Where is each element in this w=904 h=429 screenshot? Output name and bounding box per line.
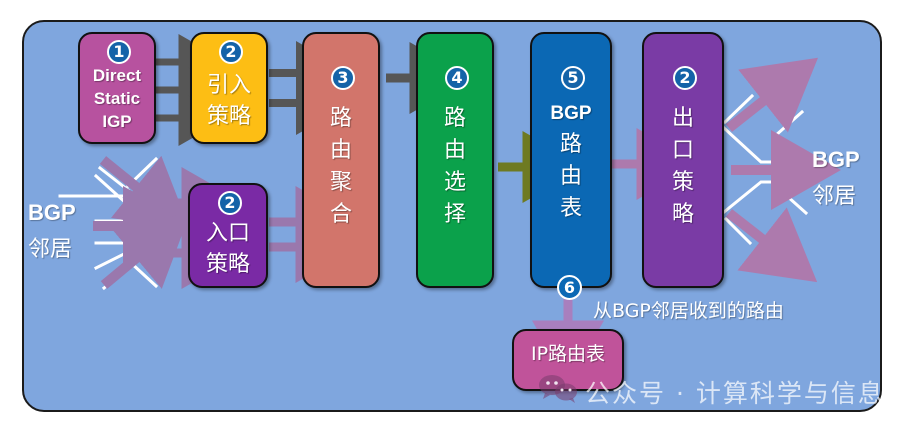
label-bgp-neighbor-right-line2: 邻居	[812, 178, 856, 210]
label-bgp-neighbor-right-line1: BGP	[812, 147, 860, 173]
box-label-igp: IGP	[80, 113, 154, 131]
box-import-policy[interactable]: 2 引入 策略	[190, 32, 268, 144]
box-label-inbound-1: 入口	[190, 222, 266, 246]
box-label-agg-1: 路	[304, 107, 378, 131]
box-label-import-line1: 引入	[192, 74, 266, 98]
box-label-sel-1: 路	[418, 107, 492, 131]
box-label-agg-2: 由	[304, 139, 378, 163]
box-label-export-1: 出	[644, 107, 722, 131]
box-label-export-2: 口	[644, 139, 722, 163]
wechat-icon	[537, 373, 579, 403]
box-label-inbound-2: 策略	[190, 253, 266, 277]
box-label-bgptable-4: 表	[532, 197, 610, 221]
box-inbound-policy[interactable]: 2 入口 策略	[188, 183, 268, 288]
box-route-aggregation[interactable]: 3 路 由 聚 合	[302, 32, 380, 288]
label-bgp-neighbor-left-line2: 邻居	[28, 231, 72, 263]
badge-1: 1	[107, 40, 131, 64]
box-label-sel-3: 选	[418, 171, 492, 195]
badge-4: 4	[445, 66, 469, 90]
badge-2-export: 2	[673, 66, 697, 90]
badge-2-import: 2	[219, 40, 243, 64]
box-label-import-line2: 策略	[192, 105, 266, 129]
box-label-export-4: 略	[644, 203, 722, 227]
badge-6: 6	[557, 275, 582, 300]
box-label-bgptable-2: 路	[532, 133, 610, 157]
badge-2-inbound: 2	[218, 191, 242, 215]
box-label-bgptable-3: 由	[532, 165, 610, 189]
label-received-routes: 从BGP邻居收到的路由	[593, 296, 784, 323]
box-direct-static-igp[interactable]: 1 Direct Static IGP	[78, 32, 156, 144]
box-route-selection[interactable]: 4 路 由 选 择	[416, 32, 494, 288]
box-label-direct: Direct	[80, 67, 154, 85]
box-label-sel-4: 择	[418, 203, 492, 227]
box-label-agg-3: 聚	[304, 171, 378, 195]
badge-5: 5	[561, 66, 585, 90]
label-bgp-neighbor-left-line1: BGP	[28, 200, 76, 226]
box-label-sel-2: 由	[418, 139, 492, 163]
box-label-export-3: 策	[644, 171, 722, 195]
box-bgp-routing-table[interactable]: 5 BGP 路 由 表	[530, 32, 612, 288]
box-label-static: Static	[80, 90, 154, 108]
diagram-stage: 1 Direct Static IGP 2 引入 策略 3 路 由 聚 合 4 …	[0, 0, 904, 429]
watermark-text: 公众号 · 计算科学与信息化	[585, 374, 904, 410]
box-export-policy[interactable]: 2 出 口 策 略	[642, 32, 724, 288]
box-label-agg-4: 合	[304, 203, 378, 227]
badge-3: 3	[331, 66, 355, 90]
box-label-bgptable-1: BGP	[532, 104, 610, 125]
box-label-ip-routing-table: IP路由表	[514, 344, 622, 365]
